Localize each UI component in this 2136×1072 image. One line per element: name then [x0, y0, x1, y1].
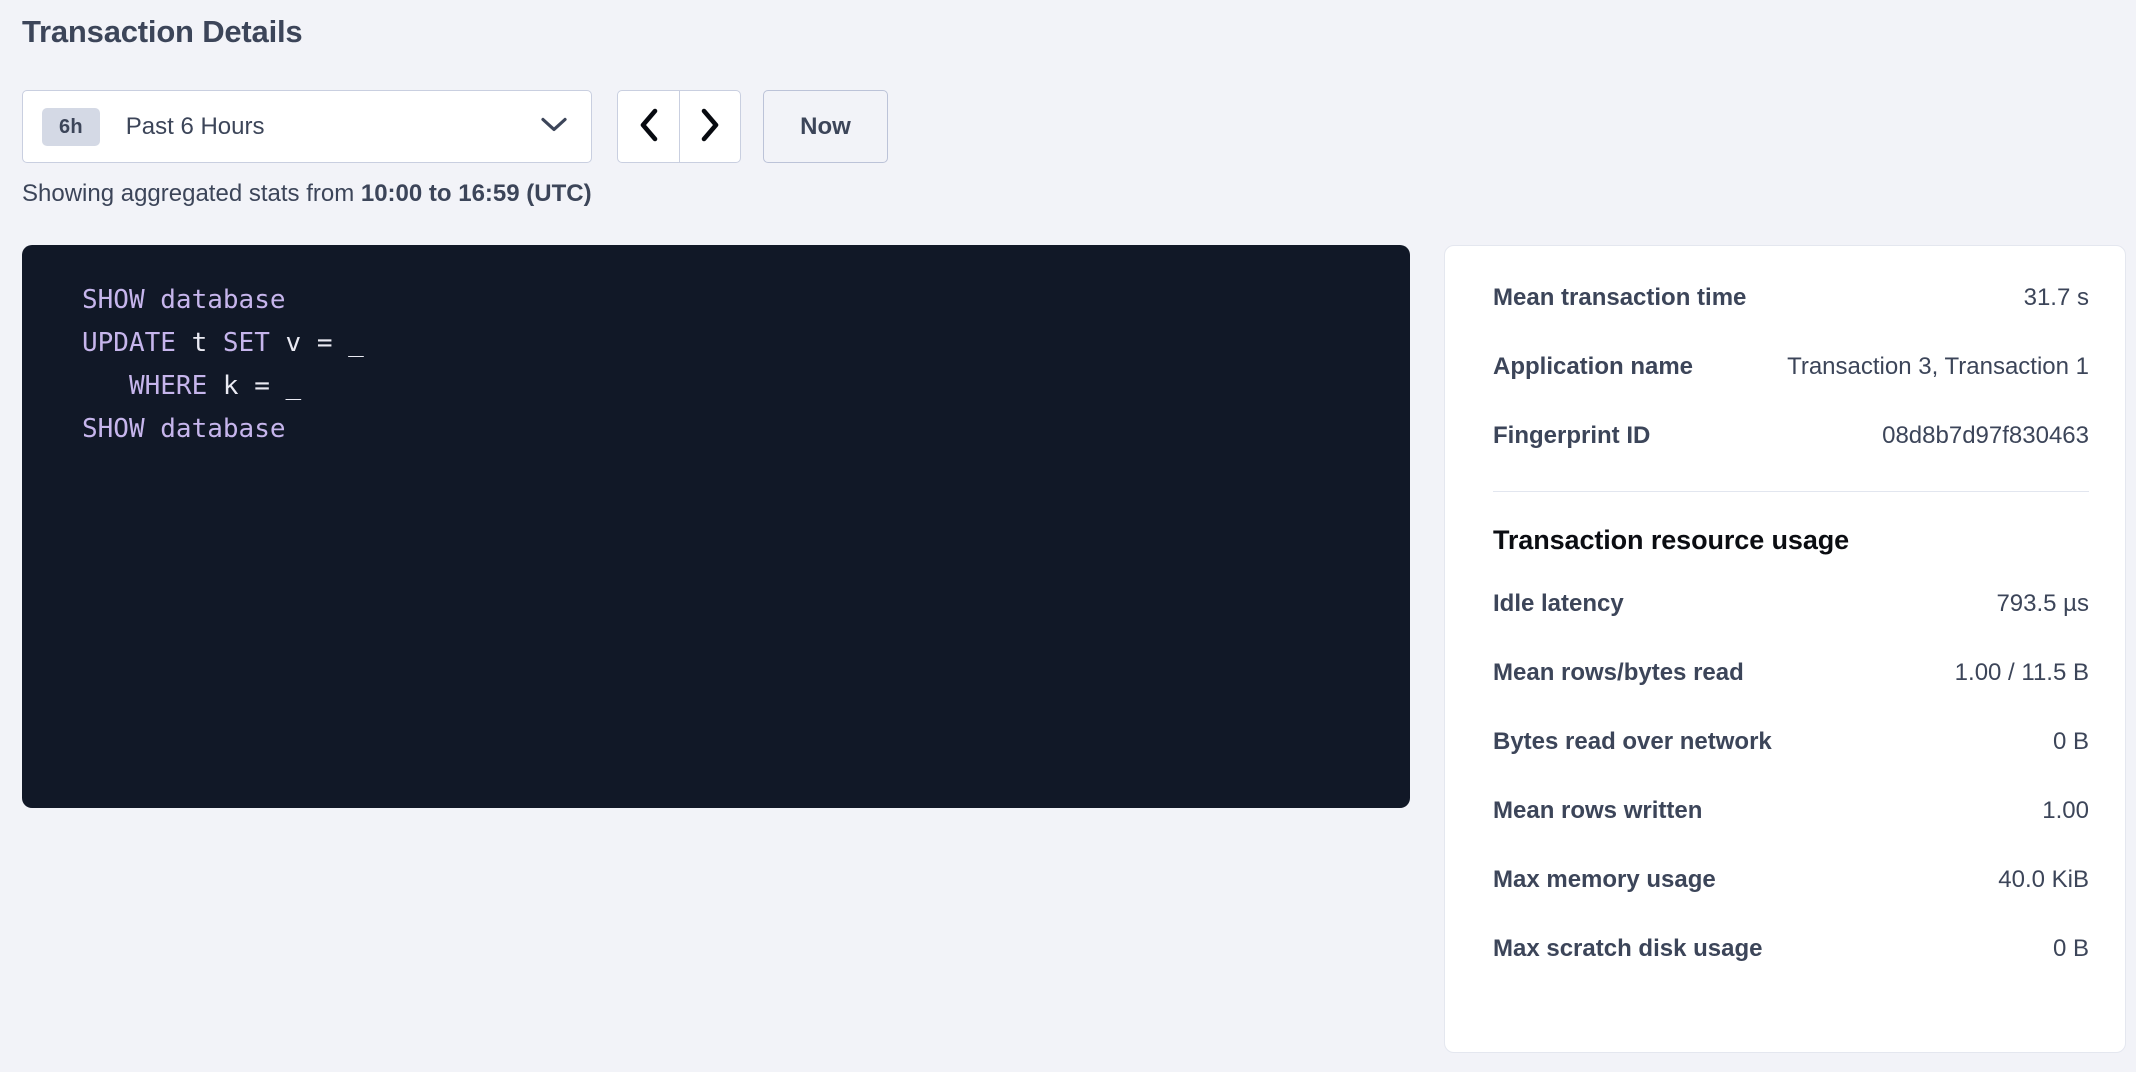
code-identifier — [145, 414, 161, 444]
stat-value: 793.5 µs — [1996, 590, 2089, 618]
next-period-button[interactable] — [679, 90, 741, 163]
transaction-details-card: Mean transaction time31.7 sApplication n… — [1444, 245, 2126, 1053]
code-identifier — [82, 371, 129, 401]
stat-row: Mean transaction time31.7 s — [1493, 284, 2089, 312]
stat-label: Bytes read over network — [1493, 728, 1772, 756]
summary-stats-list: Mean transaction time31.7 sApplication n… — [1493, 284, 2089, 450]
now-button[interactable]: Now — [763, 90, 888, 163]
stat-row: Fingerprint ID08d8b7d97f830463 — [1493, 422, 2089, 450]
time-nav-group — [617, 90, 741, 163]
code-identifier: k = _ — [207, 371, 301, 401]
stat-label: Fingerprint ID — [1493, 422, 1650, 450]
code-identifier — [145, 285, 161, 315]
code-keyword: WHERE — [129, 371, 207, 401]
stat-label: Mean rows written — [1493, 797, 1702, 825]
code-keyword: SHOW — [82, 414, 145, 444]
aggregation-range-text: Showing aggregated stats from 10:00 to 1… — [22, 180, 592, 208]
code-keyword: SET — [223, 328, 270, 358]
time-range-select[interactable]: 6h Past 6 Hours — [22, 90, 592, 163]
stat-label: Max scratch disk usage — [1493, 935, 1762, 963]
stat-label: Mean rows/bytes read — [1493, 659, 1744, 687]
aggregation-range-prefix: Showing aggregated stats from — [22, 180, 361, 207]
stat-value: Transaction 3, Transaction 1 — [1787, 353, 2089, 381]
stat-value: 1.00 — [2042, 797, 2089, 825]
stat-row: Mean rows written1.00 — [1493, 797, 2089, 825]
stat-value: 0 B — [2053, 728, 2089, 756]
chevron-right-icon — [699, 108, 721, 145]
stat-row: Idle latency793.5 µs — [1493, 590, 2089, 618]
stat-value: 1.00 / 11.5 B — [1955, 659, 2089, 687]
code-keyword: SHOW — [82, 285, 145, 315]
transaction-details-page: Transaction Details 6h Past 6 Hours — [0, 0, 2136, 1072]
code-identifier: t — [176, 328, 223, 358]
resource-usage-heading: Transaction resource usage — [1493, 525, 2089, 556]
stat-row: Max memory usage40.0 KiB — [1493, 866, 2089, 894]
stat-row: Bytes read over network0 B — [1493, 728, 2089, 756]
usage-stats-list: Idle latency793.5 µsMean rows/bytes read… — [1493, 590, 2089, 963]
code-keyword: database — [160, 414, 285, 444]
time-range-toolbar: 6h Past 6 Hours — [22, 90, 888, 163]
page-title: Transaction Details — [22, 14, 302, 50]
stat-label: Mean transaction time — [1493, 284, 1746, 312]
stat-row: Max scratch disk usage0 B — [1493, 935, 2089, 963]
stat-row: Mean rows/bytes read1.00 / 11.5 B — [1493, 659, 2089, 687]
code-line: WHERE k = _ — [82, 365, 1410, 408]
stat-row: Application nameTransaction 3, Transacti… — [1493, 353, 2089, 381]
code-identifier: v = _ — [270, 328, 364, 358]
aggregation-range-value: 10:00 to 16:59 (UTC) — [361, 180, 592, 207]
stat-value: 40.0 KiB — [1998, 866, 2089, 894]
stat-value: 0 B — [2053, 935, 2089, 963]
query-code-text: SHOW databaseUPDATE t SET v = _ WHERE k … — [22, 279, 1410, 451]
chevron-down-icon — [541, 116, 567, 137]
query-code-panel: SHOW databaseUPDATE t SET v = _ WHERE k … — [22, 245, 1410, 808]
code-line: UPDATE t SET v = _ — [82, 322, 1410, 365]
time-range-badge: 6h — [42, 108, 100, 146]
stat-value: 31.7 s — [2024, 284, 2089, 312]
previous-period-button[interactable] — [617, 90, 679, 163]
chevron-left-icon — [638, 108, 660, 145]
stat-label: Max memory usage — [1493, 866, 1716, 894]
code-line: SHOW database — [82, 279, 1410, 322]
code-line: SHOW database — [82, 408, 1410, 451]
stat-value: 08d8b7d97f830463 — [1882, 422, 2089, 450]
time-range-label: Past 6 Hours — [126, 113, 265, 141]
code-keyword: database — [160, 285, 285, 315]
stat-label: Idle latency — [1493, 590, 1624, 618]
code-keyword: UPDATE — [82, 328, 176, 358]
card-divider — [1493, 491, 2089, 492]
stat-label: Application name — [1493, 353, 1693, 381]
